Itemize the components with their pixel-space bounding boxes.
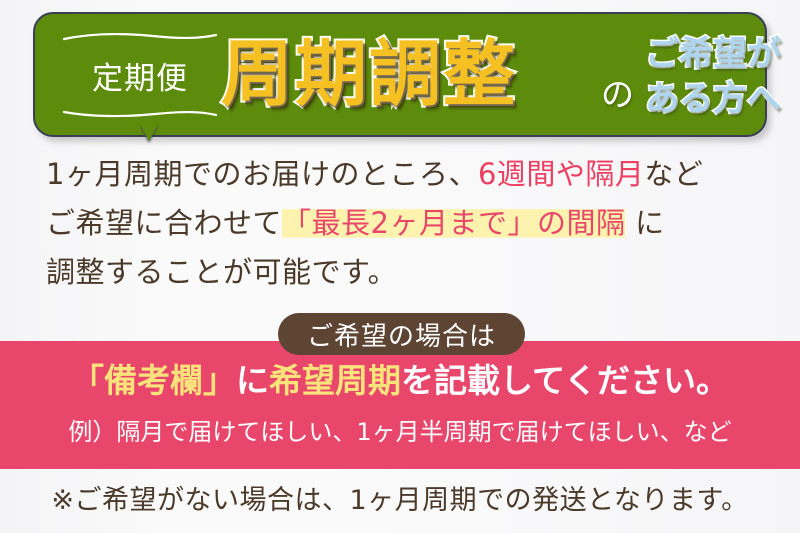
audience-callout-line2: ある方へ [645, 77, 795, 122]
description-line1-part1: 1ヶ月周期でのお届けのところ、 [46, 157, 478, 191]
instruction-part-tail: を記載してください。 [401, 361, 729, 400]
speech-bubble-tail-icon [140, 124, 158, 141]
page-title: 周期調整 [221, 26, 517, 122]
description-line2-part1: ご希望に合わせて [46, 206, 282, 240]
description-paragraph: 1ヶ月周期でのお届けのところ、6週間や隔月など ご希望に合わせて「最長2ヶ月まで… [0, 150, 800, 297]
request-case-badge: ご希望の場合は [278, 313, 525, 355]
title-particle: の [601, 68, 634, 116]
audience-callout: ご希望が ある方へ [645, 32, 795, 122]
audience-callout-line1: ご希望が [645, 32, 795, 77]
instruction-part-ni: に [236, 361, 269, 400]
instruction-example: 例）隔月で届けてほしい、1ヶ月半周期で届けてほしい、など [0, 412, 800, 447]
promo-banner: 定期便 周期調整 の ご希望が ある方へ 1ヶ月周期でのお届けのところ、6週間や… [0, 0, 800, 533]
wavy-line-bottom-icon [63, 109, 217, 119]
default-shipping-note: ※ご希望がない場合は、1ヶ月周期での発送となります。 [0, 478, 800, 517]
instruction-band: 「備考欄」に希望周期を記載してください。 例）隔月で届けてほしい、1ヶ月半周期で… [0, 341, 800, 469]
instruction-cycle-term: 希望周期 [269, 361, 401, 400]
description-line-1: 1ヶ月周期でのお届けのところ、6週間や隔月など [46, 150, 800, 199]
wavy-line-top-icon [63, 32, 217, 42]
description-line-3: 調整することが可能です。 [46, 248, 800, 297]
subscription-badge: 定期便 [61, 36, 219, 114]
description-line1-part3: など [644, 157, 703, 191]
instruction-field-name: 「備考欄」 [71, 361, 236, 400]
description-line3-text: 調整することが可能です。 [46, 255, 397, 289]
description-line2-part3: に [625, 206, 664, 240]
description-line2-highlight: 「最長2ヶ月まで」の間隔 [282, 206, 625, 240]
description-line-2: ご希望に合わせて「最長2ヶ月まで」の間隔 に [46, 199, 800, 248]
description-line1-emphasis: 6週間や隔月 [478, 157, 644, 191]
subscription-badge-label: 定期便 [92, 53, 188, 98]
instruction-main-line: 「備考欄」に希望周期を記載してください。 [0, 361, 800, 401]
header-hero: 定期便 周期調整 の ご希望が ある方へ [33, 12, 767, 137]
request-case-badge-label: ご希望の場合は [307, 316, 496, 353]
